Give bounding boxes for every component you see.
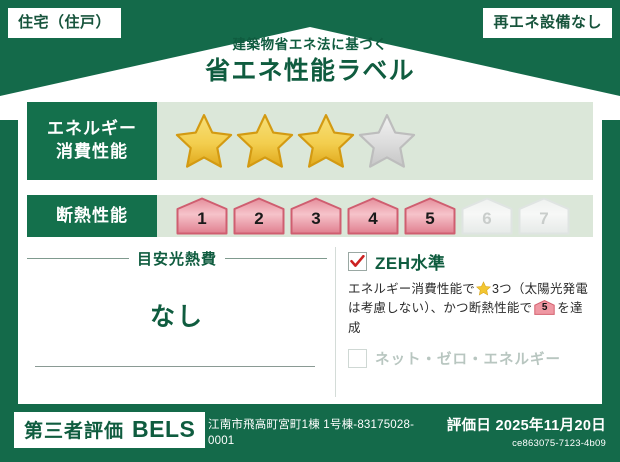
utility-cost-title: 目安光熱費 xyxy=(137,248,217,269)
insulation-level-3: 3 xyxy=(289,197,343,235)
building-type-tag: 住宅（住戸） xyxy=(8,8,121,38)
energy-performance-label: 住宅（住戸） 再エネ設備なし 建築物省エネ法に基づく 省エネ性能ラベル エネルギ… xyxy=(0,0,620,462)
zeh-title: ZEH水準 xyxy=(375,249,446,274)
footer-evaluation-info: 評価日 2025年11月20日 ce863075-7123-4b09 xyxy=(447,418,606,450)
insulation-level-value: 2 xyxy=(232,210,286,227)
zeh-desc-part-1: エネルギー消費性能で xyxy=(348,282,475,296)
star-empty-icon xyxy=(358,112,416,170)
property-address: 江南市飛高町宮町1棟 1号棟-83175028-0001 xyxy=(208,418,423,449)
inline-badge-value: 5 xyxy=(534,303,555,313)
lower-section: 目安光熱費 なし ZEH水準 エネルギー消費性能で3つ（太 xyxy=(18,245,602,404)
star-filled-icon xyxy=(175,112,233,170)
insulation-level-scale: 1234567 xyxy=(175,197,571,235)
insulation-level-value: 4 xyxy=(346,210,400,227)
insulation-level-4: 4 xyxy=(346,197,400,235)
insulation-performance-label: 断熱性能 xyxy=(27,195,157,237)
insulation-level-1: 1 xyxy=(175,197,229,235)
zeh-description: エネルギー消費性能で3つ（太陽光発電 は考慮しない）、かつ断熱性能で5を達成 xyxy=(348,280,594,338)
energy-label-line-1: エネルギー xyxy=(47,118,137,141)
insulation-performance-row: 断熱性能 1234567 xyxy=(27,195,593,237)
renewable-equipment-tag: 再エネ設備なし xyxy=(483,8,612,38)
inline-star-icon xyxy=(476,281,491,296)
label-body-panel: エネルギー 消費性能 断熱性能 1234567 目安光熱費 xyxy=(18,93,602,404)
energy-label-line-2: 消費性能 xyxy=(56,141,128,164)
evaluation-date: 評価日 2025年11月20日 xyxy=(447,418,606,435)
cost-rule-right xyxy=(225,258,327,259)
heading-title: 省エネ性能ラベル xyxy=(0,56,620,87)
label-footer: 第三者評価 BELS 江南市飛高町宮町1棟 1号棟-83175028-0001 … xyxy=(0,404,620,462)
heading-subtitle: 建築物省エネ法に基づく xyxy=(0,38,620,53)
energy-performance-row: エネルギー 消費性能 xyxy=(27,102,593,180)
bels-badge: 第三者評価 BELS xyxy=(14,412,205,448)
energy-performance-label: エネルギー 消費性能 xyxy=(27,102,157,180)
zeh-header: ZEH水準 xyxy=(348,249,594,274)
star-filled-icon xyxy=(297,112,355,170)
label-heading: 建築物省エネ法に基づく 省エネ性能ラベル xyxy=(0,38,620,87)
zeh-desc-star-count: 3つ（太陽光発電 xyxy=(492,282,588,296)
evaluation-id: ce863075-7123-4b09 xyxy=(447,438,606,449)
energy-performance-value xyxy=(157,102,593,180)
insulation-level-value: 5 xyxy=(403,210,457,227)
cost-rule-left xyxy=(27,258,129,259)
cost-bottom-divider xyxy=(35,366,315,367)
star-filled-icon xyxy=(236,112,294,170)
section-vertical-divider xyxy=(335,247,336,397)
net-zero-energy-label: ネット・ゼロ・エネルギー xyxy=(375,348,561,369)
insulation-level-6: 6 xyxy=(460,197,514,235)
inline-insulation-badge: 5 xyxy=(534,300,555,315)
zeh-desc-part-2: は考慮しない）、かつ断熱性能で xyxy=(348,301,532,315)
insulation-level-2: 2 xyxy=(232,197,286,235)
insulation-level-7: 7 xyxy=(517,197,571,235)
utility-cost-section: 目安光熱費 なし xyxy=(27,245,327,404)
insulation-performance-value: 1234567 xyxy=(157,195,593,237)
insulation-level-value: 3 xyxy=(289,210,343,227)
insulation-level-5: 5 xyxy=(403,197,457,235)
bels-badge-jp-text: 第三者評価 xyxy=(24,422,124,441)
utility-cost-value: なし xyxy=(27,297,327,333)
utility-cost-header: 目安光熱費 xyxy=(27,248,327,269)
zeh-section: ZEH水準 エネルギー消費性能で3つ（太陽光発電 は考慮しない）、かつ断熱性能で… xyxy=(348,249,594,369)
net-zero-energy-row: ネット・ゼロ・エネルギー xyxy=(348,348,594,369)
insulation-level-value: 1 xyxy=(175,210,229,227)
insulation-level-value: 7 xyxy=(517,210,571,227)
net-zero-energy-checkbox xyxy=(348,349,367,368)
zeh-checkbox xyxy=(348,252,367,271)
check-icon xyxy=(350,255,365,268)
insulation-level-value: 6 xyxy=(460,210,514,227)
insulation-label-text: 断熱性能 xyxy=(56,205,128,228)
bels-badge-en-text: BELS xyxy=(132,418,195,441)
star-rating xyxy=(175,112,416,170)
